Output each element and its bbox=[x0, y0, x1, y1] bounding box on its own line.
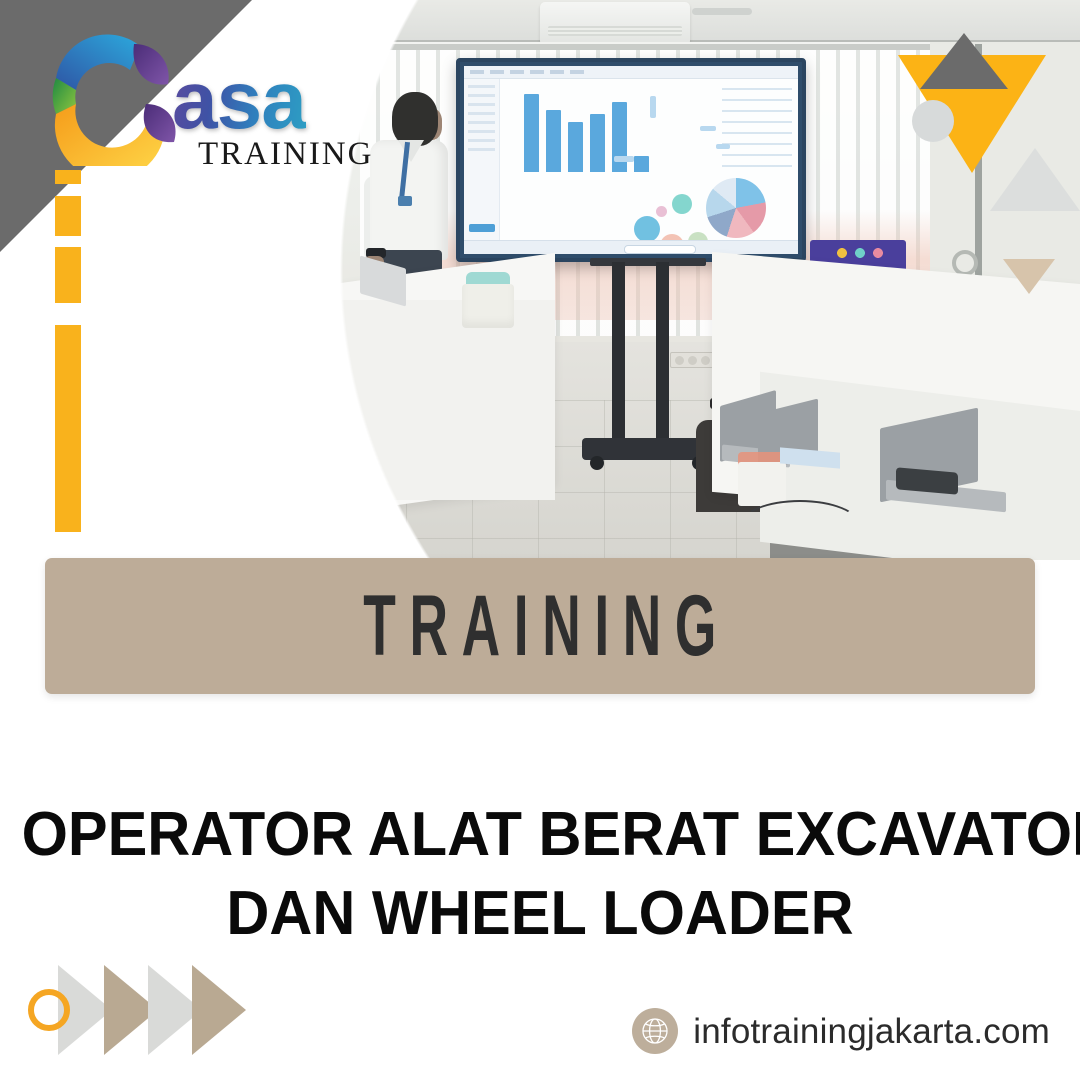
presenter-head bbox=[392, 92, 438, 146]
tissue-box bbox=[462, 284, 514, 328]
app-button bbox=[469, 224, 495, 232]
accent-bar-2 bbox=[55, 196, 81, 236]
page-title: OPERATOR ALAT BERAT EXCAVATOR DAN WHEEL … bbox=[0, 795, 1080, 954]
screen-bubble bbox=[656, 206, 667, 217]
blind-rail bbox=[358, 44, 982, 50]
training-banner-label: TRAINING bbox=[350, 583, 730, 669]
screen-bar bbox=[568, 122, 583, 172]
air-conditioner bbox=[540, 2, 690, 46]
accent-bar-4 bbox=[55, 325, 81, 532]
presenter-badge bbox=[398, 196, 412, 206]
tv-stand-column bbox=[656, 262, 669, 442]
screen-label bbox=[700, 126, 716, 131]
circle-gray-icon bbox=[912, 100, 954, 142]
front-left-table-cloth bbox=[340, 300, 555, 500]
screen-bubble bbox=[672, 194, 692, 214]
screen-data-table bbox=[722, 88, 792, 168]
logo-subtitle: TRAINING bbox=[198, 138, 373, 171]
screen-bar bbox=[590, 114, 605, 172]
screen-label bbox=[650, 96, 656, 118]
poster-icons bbox=[834, 246, 890, 260]
accent-bar-3 bbox=[55, 247, 81, 303]
website-footer[interactable]: infotrainingjakarta.com bbox=[632, 1008, 1050, 1054]
circle-outline-icon bbox=[28, 989, 70, 1031]
logo-wordmark: asa bbox=[172, 60, 306, 142]
screen-label bbox=[614, 156, 634, 162]
table-cable bbox=[740, 500, 860, 550]
casa-circular-logo-icon bbox=[30, 18, 178, 166]
ring-hook-icon bbox=[952, 250, 978, 276]
title-line-2: DAN WHEEL LOADER bbox=[22, 874, 1059, 953]
tv-mount-arm bbox=[590, 258, 706, 266]
screen-pie-chart bbox=[706, 178, 766, 238]
globe-icon bbox=[632, 1008, 678, 1054]
website-url: infotrainingjakarta.com bbox=[693, 1014, 1050, 1049]
screen-bar-chart bbox=[520, 92, 650, 212]
screen-bubble bbox=[634, 216, 660, 242]
screen-taskbar bbox=[464, 240, 798, 254]
tv-stand-column bbox=[612, 262, 625, 442]
tv-stand-wheel bbox=[590, 456, 604, 470]
app-side-panel bbox=[464, 79, 500, 240]
triangle-gray-up-icon bbox=[920, 33, 1008, 89]
screen-bar bbox=[546, 110, 561, 172]
app-ribbon bbox=[464, 66, 798, 79]
training-banner: TRAINING bbox=[45, 558, 1035, 694]
poster-canvas: 01 02 bbox=[0, 0, 1080, 1080]
presentation-display bbox=[456, 58, 806, 262]
screen-bar bbox=[634, 156, 649, 172]
brand-logo: asa TRAINING bbox=[30, 18, 350, 168]
screen-bar bbox=[524, 94, 539, 172]
tissue-pack bbox=[738, 462, 786, 506]
ac-pipe bbox=[692, 8, 752, 15]
triangle-white-up-icon bbox=[990, 148, 1080, 211]
arrow-decoration bbox=[18, 965, 218, 1065]
screen-label bbox=[716, 144, 730, 149]
arrow-4-icon bbox=[192, 965, 246, 1055]
display-screen bbox=[464, 66, 798, 254]
accent-bar-1 bbox=[55, 170, 81, 184]
triangle-beige-down-icon bbox=[1003, 259, 1055, 294]
title-line-1: OPERATOR ALAT BERAT EXCAVATOR bbox=[22, 795, 1059, 874]
